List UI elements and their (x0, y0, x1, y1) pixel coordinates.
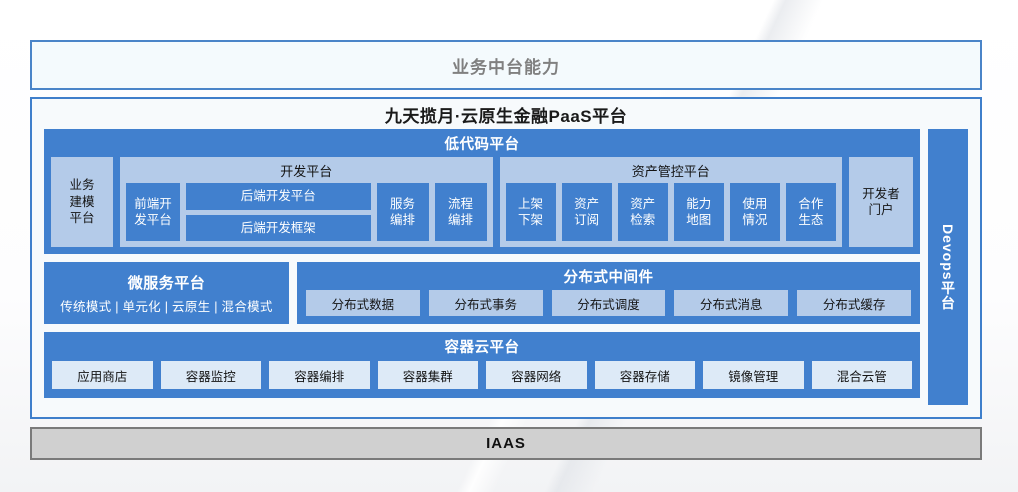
process-orchestration-line-1: 流程 (448, 196, 473, 213)
middleware-item-scheduling-label: 分布式调度 (577, 294, 640, 313)
developer-portal-line-1: 开发者 (862, 186, 900, 203)
middleware-item-cache-label: 分布式缓存 (823, 294, 886, 313)
architecture-diagram: 业务中台能力 九天揽月·云原生金融PaaS平台 低代码平台 业务 建模 平台 (0, 0, 1018, 492)
middleware-item-data[interactable]: 分布式数据 (306, 290, 420, 316)
middleware-item-transaction[interactable]: 分布式事务 (429, 290, 543, 316)
microservice-platform-title: 微服务平台 (128, 272, 206, 293)
iaas-layer-label: IAAS (486, 435, 526, 452)
asset-item-capability-map-line-1: 能力 (686, 196, 711, 213)
paas-layer-stack: 低代码平台 业务 建模 平台 开发平台 (44, 129, 920, 411)
asset-item-capability-map[interactable]: 能力 地图 (674, 183, 724, 241)
asset-item-subscription-line-2: 订阅 (574, 212, 599, 229)
asset-item-usage-line-2: 情况 (742, 212, 767, 229)
container-item-cluster-label: 容器集群 (403, 366, 453, 385)
container-item-storage[interactable]: 容器存储 (595, 361, 696, 389)
asset-management-items-row: 上架 下架 资产 订阅 资产 检索 (506, 183, 837, 241)
business-capability-label: 业务中台能力 (452, 53, 560, 78)
asset-item-usage[interactable]: 使用 情况 (730, 183, 780, 241)
middleware-item-messaging[interactable]: 分布式消息 (674, 290, 788, 316)
middleware-item-messaging-label: 分布式消息 (700, 294, 763, 313)
backend-dev-framework-label: 后端开发框架 (241, 220, 316, 237)
asset-item-capability-map-line-2: 地图 (686, 212, 711, 229)
distributed-middleware-items: 分布式数据 分布式事务 分布式调度 分布式消息 (297, 290, 920, 324)
container-cloud-group: 容器云平台 应用商店 容器监控 容器编排 容器集群 (44, 332, 920, 398)
middleware-item-transaction-label: 分布式事务 (454, 294, 517, 313)
business-modeling-line-3: 平台 (69, 210, 94, 227)
container-item-monitoring-label: 容器监控 (186, 366, 236, 385)
frontend-dev-line-2: 发平台 (134, 212, 172, 229)
asset-item-search-line-2: 检索 (630, 212, 655, 229)
asset-item-search[interactable]: 资产 检索 (618, 183, 668, 241)
devops-platform-label: Devops平台 (938, 224, 958, 311)
container-item-image-management-label: 镜像管理 (728, 366, 778, 385)
business-modeling-line-2: 建模 (69, 194, 94, 211)
container-cloud-title: 容器云平台 (44, 332, 920, 360)
backend-dev-framework-tile[interactable]: 后端开发框架 (186, 215, 371, 242)
lowcode-platform-row: 业务 建模 平台 开发平台 前端开 发平台 (44, 157, 920, 254)
container-item-hybrid-cloud-label: 混合云管 (837, 366, 887, 385)
lowcode-platform-group: 低代码平台 业务 建模 平台 开发平台 (44, 129, 920, 254)
frontend-dev-line-1: 前端开 (134, 196, 172, 213)
container-cloud-items: 应用商店 容器监控 容器编排 容器集群 容器网络 (44, 360, 920, 398)
container-item-network[interactable]: 容器网络 (486, 361, 587, 389)
lowcode-platform-title: 低代码平台 (44, 129, 920, 157)
service-orchestration-line-1: 服务 (390, 196, 415, 213)
service-orchestration-tile[interactable]: 服务 编排 (377, 183, 429, 241)
microservice-platform-modes: 传统模式 | 单元化 | 云原生 | 混合模式 (60, 296, 272, 315)
paas-platform-body: 低代码平台 业务 建模 平台 开发平台 (32, 129, 980, 417)
development-platform-title: 开发平台 (126, 159, 487, 183)
asset-management-platform-panel: 资产管控平台 上架 下架 资产 订阅 (500, 157, 843, 247)
asset-item-search-line-1: 资产 (630, 196, 655, 213)
backend-dev-platform-label: 后端开发平台 (241, 188, 316, 205)
iaas-layer-bar: IAAS (30, 427, 982, 460)
container-item-cluster[interactable]: 容器集群 (378, 361, 479, 389)
microservice-platform-group[interactable]: 微服务平台 传统模式 | 单元化 | 云原生 | 混合模式 (44, 262, 289, 324)
container-item-storage-label: 容器存储 (620, 366, 670, 385)
asset-item-ecosystem-line-1: 合作 (798, 196, 823, 213)
backend-dev-stack: 后端开发平台 后端开发框架 (186, 183, 371, 241)
asset-item-subscription-line-1: 资产 (574, 196, 599, 213)
process-orchestration-line-2: 编排 (448, 212, 473, 229)
container-item-monitoring[interactable]: 容器监控 (161, 361, 262, 389)
asset-item-ecosystem[interactable]: 合作 生态 (786, 183, 836, 241)
container-item-app-store[interactable]: 应用商店 (52, 361, 153, 389)
devops-platform-bar[interactable]: Devops平台 (928, 129, 968, 405)
asset-item-listing[interactable]: 上架 下架 (506, 183, 556, 241)
distributed-middleware-group: 分布式中间件 分布式数据 分布式事务 分布式调度 (297, 262, 920, 324)
middleware-item-cache[interactable]: 分布式缓存 (797, 290, 911, 316)
process-orchestration-tile[interactable]: 流程 编排 (435, 183, 487, 241)
paas-platform-title: 九天揽月·云原生金融PaaS平台 (32, 99, 980, 129)
distributed-middleware-title: 分布式中间件 (297, 262, 920, 290)
developer-portal-line-2: 门户 (868, 202, 893, 219)
container-item-orchestration[interactable]: 容器编排 (269, 361, 370, 389)
middleware-item-scheduling[interactable]: 分布式调度 (552, 290, 666, 316)
container-item-app-store-label: 应用商店 (77, 366, 127, 385)
middleware-item-data-label: 分布式数据 (332, 294, 395, 313)
container-item-orchestration-label: 容器编排 (294, 366, 344, 385)
development-platform-panel: 开发平台 前端开 发平台 后端开发平台 (120, 157, 493, 247)
container-item-hybrid-cloud[interactable]: 混合云管 (812, 361, 913, 389)
asset-item-ecosystem-line-2: 生态 (798, 212, 823, 229)
container-item-image-management[interactable]: 镜像管理 (703, 361, 804, 389)
service-orchestration-line-2: 编排 (390, 212, 415, 229)
developer-portal-tile[interactable]: 开发者 门户 (849, 157, 913, 247)
asset-item-subscription[interactable]: 资产 订阅 (562, 183, 612, 241)
business-modeling-line-1: 业务 (69, 177, 94, 194)
asset-item-listing-line-2: 下架 (518, 212, 543, 229)
business-capability-band: 业务中台能力 (30, 40, 982, 90)
middleware-layer-row: 微服务平台 传统模式 | 单元化 | 云原生 | 混合模式 分布式中间件 分布式… (44, 262, 920, 324)
backend-dev-platform-tile[interactable]: 后端开发平台 (186, 183, 371, 210)
development-platform-inner: 前端开 发平台 后端开发平台 后端开发框架 (126, 183, 487, 241)
business-modeling-platform-tile[interactable]: 业务 建模 平台 (51, 157, 113, 247)
asset-item-usage-line-1: 使用 (742, 196, 767, 213)
frontend-dev-platform-tile[interactable]: 前端开 发平台 (126, 183, 180, 241)
container-item-network-label: 容器网络 (511, 366, 561, 385)
asset-item-listing-line-1: 上架 (518, 196, 543, 213)
paas-platform-frame: 九天揽月·云原生金融PaaS平台 低代码平台 业务 建模 平台 (30, 97, 982, 419)
asset-management-platform-title: 资产管控平台 (506, 159, 837, 183)
